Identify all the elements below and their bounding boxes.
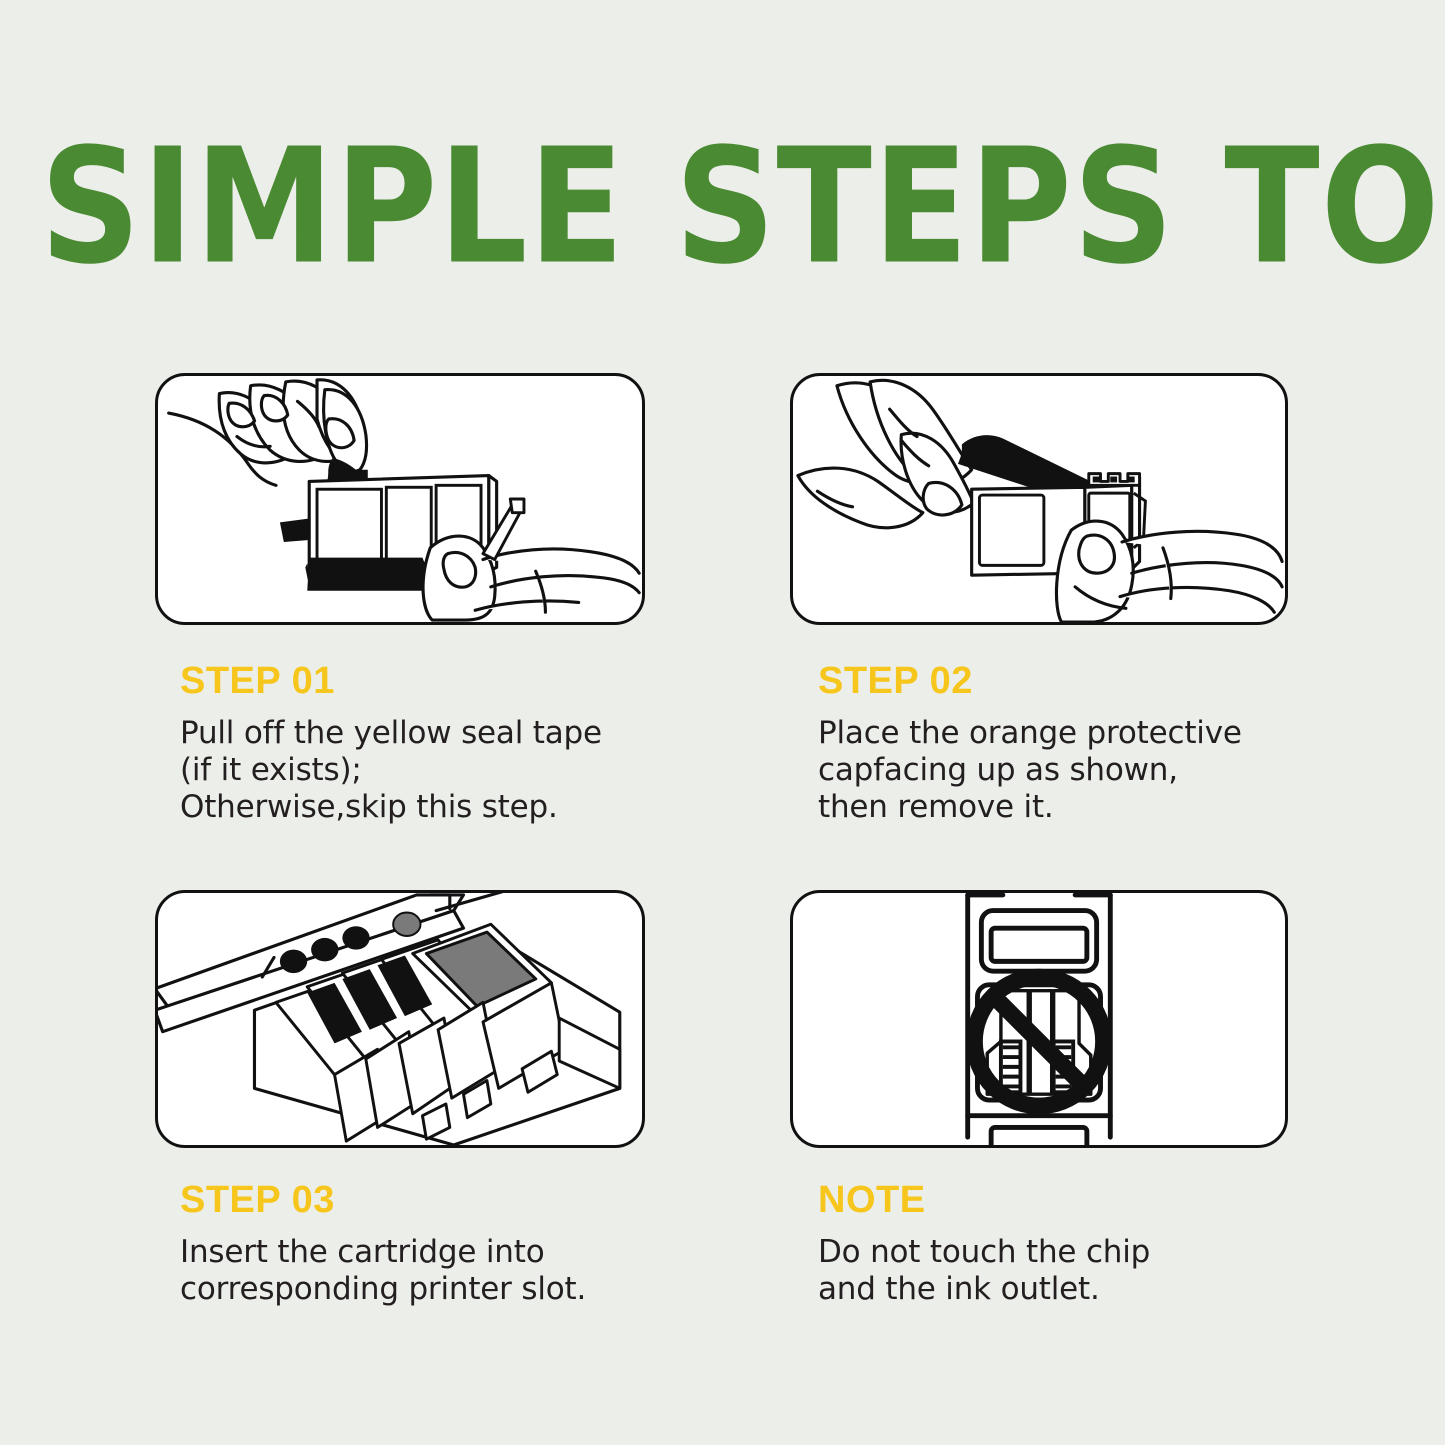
page-title: SIMPLE STEPS TO EASILY xyxy=(40,136,1385,279)
step-label-note: NOTE xyxy=(790,1180,1288,1220)
step-label-03: STEP 03 xyxy=(155,1180,645,1220)
printer-carriage-slots-icon xyxy=(158,893,642,1145)
illustration-card-step-01 xyxy=(155,373,645,625)
hand-removing-protective-cap-icon xyxy=(793,376,1285,622)
illustration-card-step-03 xyxy=(155,890,645,1148)
step-body-03: Insert the cartridge into corresponding … xyxy=(155,1234,645,1308)
panel-step-01: STEP 01 Pull off the yellow seal tape (i… xyxy=(155,373,645,826)
hand-pulling-yellow-seal-tape-icon xyxy=(158,376,642,622)
step-label-01: STEP 01 xyxy=(155,661,645,701)
step-body-note: Do not touch the chip and the ink outlet… xyxy=(790,1234,1288,1308)
step-body-01: Pull off the yellow seal tape (if it exi… xyxy=(155,715,645,826)
panel-step-03: STEP 03 Insert the cartridge into corres… xyxy=(155,890,645,1308)
panel-step-02: STEP 02 Place the orange protective capf… xyxy=(790,373,1288,826)
illustration-card-step-02 xyxy=(790,373,1288,625)
step-body-02: Place the orange protective capfacing up… xyxy=(790,715,1288,826)
illustration-card-note xyxy=(790,890,1288,1148)
panel-note: NOTE Do not touch the chip and the ink o… xyxy=(790,890,1288,1308)
do-not-touch-chip-icon xyxy=(793,893,1285,1145)
step-label-02: STEP 02 xyxy=(790,661,1288,701)
